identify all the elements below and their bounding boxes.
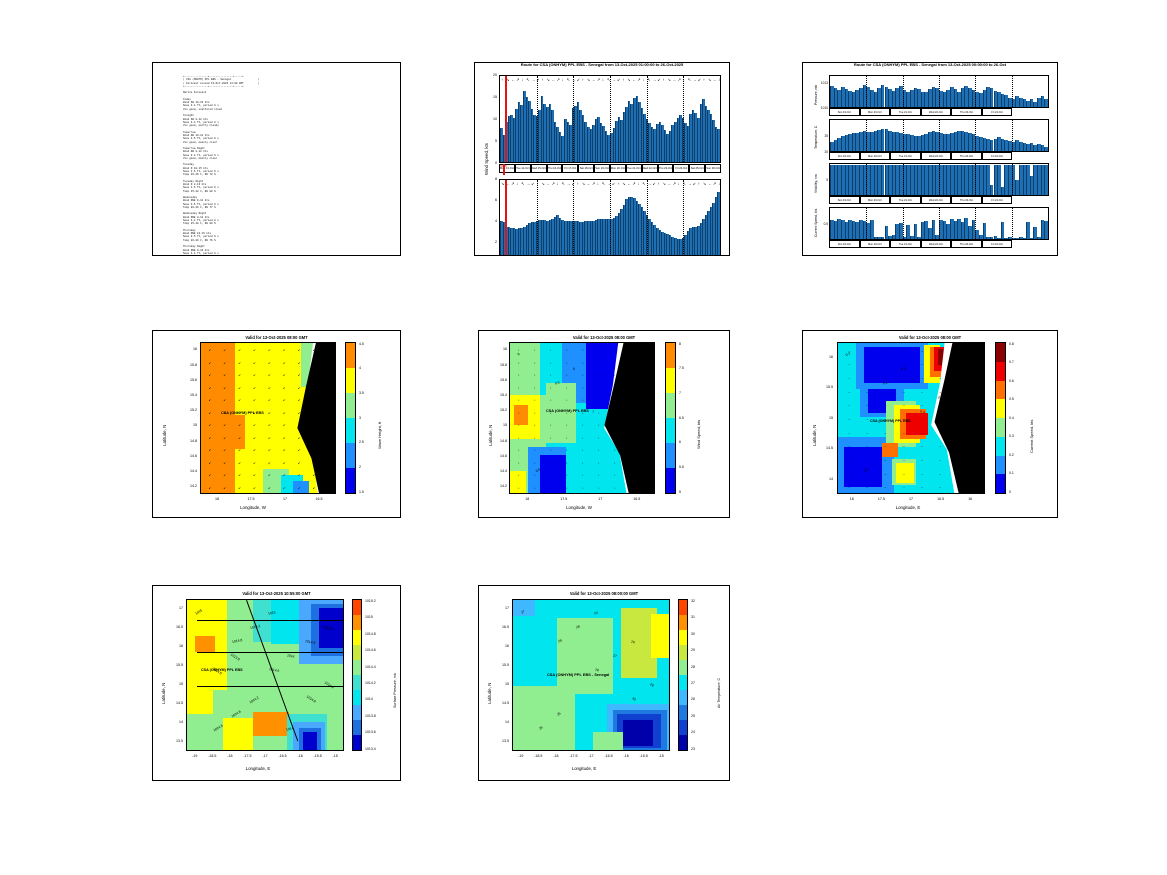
gridline <box>683 76 684 162</box>
direction-arrow: ← <box>673 77 677 82</box>
quiver-arrow: ↙ <box>313 487 316 490</box>
quiver-arrow: ↓ <box>566 487 568 490</box>
direction-arrow: ↙ <box>572 181 575 186</box>
quiver-arrow: ↙ <box>268 462 271 465</box>
quiver-arrow: ↓ <box>518 374 520 377</box>
quiver-arrow: ↓ <box>630 374 632 377</box>
gridline <box>939 76 940 107</box>
quiver-arrow: → <box>938 404 941 407</box>
quiver-arrow: ↓ <box>614 424 616 427</box>
direction-arrow: ↖ <box>602 181 605 186</box>
subplot-day-labels: Sun 19-OctMon 20-OctTue 21-OctWed 22-Oct… <box>829 240 1049 249</box>
quiver-arrow: ↙ <box>313 399 316 402</box>
contour-label: 24 <box>594 611 598 616</box>
quiver-arrow: ↓ <box>630 462 632 465</box>
direction-arrow: ↑ <box>622 77 624 82</box>
quiver-arrow: ↙ <box>238 424 241 427</box>
colorbar-tick: 0.1 <box>1009 471 1014 475</box>
quiver-arrow: ↓ <box>614 387 616 390</box>
quiver-arrow: → <box>975 404 978 407</box>
quiver-arrow: ↓ <box>614 412 616 415</box>
quiver-arrow: ↓ <box>582 424 584 427</box>
quiver-arrow: ↙ <box>283 462 286 465</box>
quiver-arrow: ↓ <box>566 449 568 452</box>
day-label: Fri 24-Oct <box>982 152 1013 160</box>
y-tick: 14.8 <box>179 439 197 443</box>
subplot-ytick: 5 <box>811 178 828 182</box>
day-label: Tue 21-Oct <box>890 196 921 204</box>
quiver-arrow: ↙ <box>313 449 316 452</box>
colorbar-segment <box>679 705 687 720</box>
direction-arrow: ↖ <box>647 77 650 82</box>
colorbar-tick: 1013.4 <box>365 747 376 751</box>
contour-label: 25 <box>556 711 561 716</box>
y-tick: 14 <box>165 720 183 724</box>
y-tick: 17 <box>165 606 183 610</box>
site-label: CSA (ONHYM) PPL EBS <box>546 409 589 413</box>
quiver-arrow: ↓ <box>646 387 648 390</box>
contour-label: 1015 <box>195 608 204 615</box>
quiver-arrow: ↙ <box>238 387 241 390</box>
day-label: Mon 20-Oct <box>860 152 891 160</box>
map-title: Valid for 13-Oct-2025 08:00 GMT <box>479 335 729 340</box>
y-tick: 15.6 <box>179 378 197 382</box>
direction-arrow: ↙ <box>531 181 534 186</box>
quiver-arrow: ↙ <box>313 374 316 377</box>
contour-label: 0.1 <box>883 382 888 386</box>
contour-label: 1014.8 <box>305 639 316 645</box>
direction-arrow: ← <box>668 181 672 186</box>
contour-label: 1015 <box>268 610 276 615</box>
subplot-bars <box>830 208 1048 239</box>
colorbar-segment <box>679 675 687 690</box>
quiver-arrow: ↓ <box>646 349 648 352</box>
quiver-arrow: → <box>957 459 960 462</box>
quiver-arrow: → <box>884 445 887 448</box>
colorbar-segment <box>679 645 687 660</box>
current-speed-colorbar <box>995 342 1006 494</box>
colorbar-segment <box>996 343 1005 362</box>
quiver-arrow: ↙ <box>223 362 226 365</box>
colorbar-segment <box>666 443 675 468</box>
y-tick: 16 <box>165 644 183 648</box>
site-label: CSA (ONHYM) PPL EBS <box>870 419 911 423</box>
colorbar-segment <box>996 437 1005 456</box>
colorbar-segment <box>353 675 361 690</box>
quiver-arrow: ↓ <box>550 462 552 465</box>
quiver-arrow: ↓ <box>550 399 552 402</box>
quiver-arrow: ↙ <box>268 412 271 415</box>
quiver-arrow: → <box>902 459 905 462</box>
y-tick: 17 <box>491 606 509 610</box>
colorbar-tick: 0.2 <box>1009 453 1014 457</box>
wave-height-map[interactable]: ↙↙↙↙↙↙↙↙↙↙↙↙↙↙↙↙↙↙↙↙↙↙↙↙↙↙↙↙↙↙↙↙↙↙↙↙↙↙↙↙… <box>200 342 336 494</box>
y-tick: 15.4 <box>179 393 197 397</box>
direction-arrow: ↑ <box>536 181 538 186</box>
direction-arrow: ↑ <box>501 77 503 82</box>
quiver-arrow: ↓ <box>534 474 536 477</box>
direction-arrow: ↗ <box>511 181 514 186</box>
y-tick: 15 <box>477 95 497 99</box>
current-time-marker <box>505 76 506 162</box>
colorbar-tick: 1015.2 <box>365 599 376 603</box>
quiver-arrow: ↙ <box>328 462 331 465</box>
longitude-axis-label: Longitude, E <box>823 505 993 510</box>
colorbar-tick: 5 <box>679 490 681 494</box>
y-tick: 15 <box>489 423 507 427</box>
colorbar-segment <box>666 368 675 393</box>
quiver-arrow: ↙ <box>298 399 301 402</box>
colorbar-tick: 3.5 <box>359 391 364 395</box>
contour-label: 25 <box>538 725 543 730</box>
quiver-arrow: → <box>865 350 868 353</box>
direction-arrow: ↓ <box>642 77 644 82</box>
direction-arrow: ↗ <box>632 181 635 186</box>
gridline <box>537 180 538 256</box>
quiver-arrow: → <box>902 486 905 489</box>
quiver-arrow: → <box>975 391 978 394</box>
subplot-3 <box>829 207 1049 240</box>
direction-arrow: ↗ <box>557 77 560 82</box>
colorbar-tick: 2.5 <box>359 440 364 444</box>
quiver-arrow: → <box>865 377 868 380</box>
direction-arrow: ↘ <box>703 181 706 186</box>
wind-speed-colorbar <box>665 342 676 494</box>
quiver-arrow: ↙ <box>238 449 241 452</box>
contour-label: 1014 <box>286 726 294 731</box>
quiver-arrow: ↓ <box>550 387 552 390</box>
quiver-arrow: ↓ <box>534 437 536 440</box>
day-label: Fri 24-Oct <box>982 240 1013 248</box>
quiver-arrow: ↓ <box>518 362 520 365</box>
quiver-arrow: ↙ <box>268 437 271 440</box>
y-tick: 14 <box>491 720 509 724</box>
x-tick: 17.5 <box>241 497 261 501</box>
quiver-arrow: ↓ <box>630 449 632 452</box>
y-tick: 15.5 <box>165 663 183 667</box>
direction-arrow: ↑ <box>703 77 705 82</box>
quiver-arrow: → <box>865 459 868 462</box>
quiver-arrow: ↙ <box>223 349 226 352</box>
quiver-arrow: → <box>884 459 887 462</box>
direction-arrow: ↖ <box>688 77 691 82</box>
quiver-arrow: ↓ <box>534 374 536 377</box>
quiver-arrow: ↓ <box>550 449 552 452</box>
direction-arrow: ↖ <box>526 77 529 82</box>
y-tick: 15.5 <box>815 385 833 389</box>
quiver-arrow: → <box>920 404 923 407</box>
longitude-axis-label: Longitude, E <box>499 766 669 771</box>
y-tick: 15.2 <box>179 408 197 412</box>
quiver-arrow: ↙ <box>298 487 301 490</box>
colorbar-tick: 0.6 <box>1009 379 1014 383</box>
quiver-arrow: → <box>902 445 905 448</box>
direction-arrow: ↗ <box>637 77 640 82</box>
y-tick: 14.5 <box>165 701 183 705</box>
subplot-0 <box>829 75 1049 108</box>
quiver-arrow: ↓ <box>566 387 568 390</box>
quiver-arrow: → <box>938 445 941 448</box>
quiver-arrow: ↓ <box>534 449 536 452</box>
quiver-arrow: ↓ <box>598 412 600 415</box>
colorbar-tick: 28 <box>691 665 695 669</box>
quiver-arrow: ↙ <box>298 424 301 427</box>
colorbar-tick: 1014.8 <box>365 632 376 636</box>
quiver-arrow: → <box>938 377 941 380</box>
quiver-arrow: → <box>957 363 960 366</box>
day-label: Thu 23-Oct <box>658 164 674 173</box>
quiver-arrow: ↙ <box>298 387 301 390</box>
quiver-arrow: → <box>975 350 978 353</box>
quiver-arrow: ↙ <box>253 362 256 365</box>
quiver-arrow: ↙ <box>253 349 256 352</box>
y-tick: 16 <box>815 355 833 359</box>
quiver-arrow: ↙ <box>313 362 316 365</box>
quiver-arrow: → <box>847 459 850 462</box>
quiver-arrow: ↙ <box>283 374 286 377</box>
y-tick: 10 <box>477 117 497 121</box>
quiver-arrow: → <box>865 363 868 366</box>
quiver-arrow: → <box>865 391 868 394</box>
day-label: Wed 22-Oct <box>642 164 658 173</box>
quiver-arrow: → <box>884 404 887 407</box>
quiver-arrow: → <box>975 377 978 380</box>
colorbar-segment <box>346 368 355 393</box>
quiver-arrow: ↙ <box>268 399 271 402</box>
quiver-arrow: ↓ <box>646 462 648 465</box>
quiver-arrow: ↙ <box>238 474 241 477</box>
gridline <box>537 76 538 162</box>
wind-wave-timeseries-panel: Route for CSA (ONHYM) PPL EBS - Senegal … <box>474 62 730 256</box>
x-tick: 18 <box>842 497 862 501</box>
quiver-arrow: → <box>884 391 887 394</box>
quiver-arrow: ↓ <box>582 437 584 440</box>
gridline <box>1012 120 1013 151</box>
quiver-arrow: ↓ <box>518 462 520 465</box>
quiver-arrow: ↙ <box>328 437 331 440</box>
colorbar-tick: 29 <box>691 648 695 652</box>
x-tick: -15 <box>651 754 671 758</box>
contour-label: 1013.6 <box>230 652 241 661</box>
colorbar-segment <box>666 393 675 418</box>
direction-arrow: → <box>572 77 576 82</box>
day-label: Wed 22-Oct <box>921 152 952 160</box>
quiver-arrow: ↓ <box>630 487 632 490</box>
quiver-arrow: ↓ <box>598 387 600 390</box>
direction-arrow: ← <box>546 181 550 186</box>
air-temperature-map[interactable]: CSA (ONHYM) PPL EBS - Senegal 2729283025… <box>512 599 670 751</box>
quiver-arrow: → <box>847 445 850 448</box>
quiver-arrow: ↙ <box>298 374 301 377</box>
direction-arrow: ↖ <box>607 77 610 82</box>
gridline <box>610 76 611 162</box>
bar <box>1044 221 1048 239</box>
wind-speed-map[interactable]: ↓↓↓↓↓↓↓↓↓↓↓↓↓↓↓↓↓↓↓↓↓↓↓↓↓↓↓↓↓↓↓↓↓↓↓↓↓↓↓↓… <box>509 342 655 494</box>
quiver-arrow: ↙ <box>298 412 301 415</box>
direction-arrow: ↓ <box>602 77 604 82</box>
quiver-arrow: ↓ <box>518 399 520 402</box>
quiver-arrow: → <box>957 377 960 380</box>
y-tick: 15.5 <box>491 663 509 667</box>
contour-label: 1014.6 <box>269 667 280 673</box>
quiver-arrow: ↓ <box>598 362 600 365</box>
quiver-arrow: ↙ <box>253 374 256 377</box>
direction-arrow: ↙ <box>652 181 655 186</box>
contour-label: 6 <box>517 353 520 357</box>
quiver-arrow: ↙ <box>238 487 241 490</box>
day-label: Sat 18-Oct <box>578 164 594 173</box>
subplot-bars <box>830 120 1048 151</box>
quiver-arrow: ↙ <box>208 399 211 402</box>
quiver-arrow: ↓ <box>534 399 536 402</box>
surface-pressure-map-panel: Valid for 13-Oct-2025 10:55:00 GMT Latit… <box>152 585 401 781</box>
current-speed-map-panel: Valid for 13-Oct-2025 08:00 GMT Latitude… <box>802 330 1058 518</box>
quiver-arrow: ↓ <box>518 437 520 440</box>
y-tick: 15 <box>179 423 197 427</box>
quiver-arrow: ↙ <box>283 449 286 452</box>
y-tick: 14 <box>815 477 833 481</box>
site-label: CSA (ONHYM) PPL EBS <box>221 411 264 415</box>
colorbar-segment <box>353 600 361 615</box>
contour-label: 6 <box>573 368 576 372</box>
quiver-arrow: ↙ <box>313 412 316 415</box>
direction-arrow: ↑ <box>662 77 664 82</box>
quiver-arrow: ↓ <box>534 462 536 465</box>
contour-label: 29 <box>558 639 562 644</box>
direction-arrow: ↓ <box>683 77 685 82</box>
quiver-arrow: ↙ <box>208 424 211 427</box>
quiver-arrow: ↓ <box>518 424 520 427</box>
contour-label: 6.5 <box>535 468 541 473</box>
contour-label: 1014.2 <box>250 624 261 630</box>
quiver-arrow: → <box>847 377 850 380</box>
direction-arrow: ↗ <box>713 181 716 186</box>
quiver-arrow: ↙ <box>253 462 256 465</box>
direction-arrow: → <box>531 77 535 82</box>
current-speed-map[interactable]: →→→→→→→→→→→→→→→→→→→→→→→→→→→→→→→→→→→→→→→→… <box>837 342 985 494</box>
y-tick: 14.2 <box>489 484 507 488</box>
x-tick: 16.5 <box>627 497 647 501</box>
forecast-text-report-panel: +---------------+---------------+-----+|… <box>152 62 401 256</box>
quiver-arrow: ↓ <box>550 374 552 377</box>
quiver-arrow: → <box>957 432 960 435</box>
x-tick: 16 <box>960 497 980 501</box>
quiver-arrow: ↓ <box>582 474 584 477</box>
colorbar-segment <box>996 381 1005 400</box>
direction-arrow: ↓ <box>637 181 639 186</box>
y-tick: 16 <box>179 347 197 351</box>
quiver-arrow: ↙ <box>313 349 316 352</box>
y-tick: 16.5 <box>491 625 509 629</box>
quiver-arrow: → <box>975 473 978 476</box>
quiver-arrow: → <box>920 377 923 380</box>
direction-arrow: ↓ <box>516 181 518 186</box>
quiver-arrow: ↓ <box>566 474 568 477</box>
quiver-arrow: ↙ <box>268 487 271 490</box>
colorbar-segment <box>353 615 361 630</box>
quiver-arrow: → <box>957 404 960 407</box>
quiver-arrow: → <box>975 445 978 448</box>
colorbar-segment <box>679 690 687 705</box>
direction-arrow: ↘ <box>506 77 509 82</box>
quiver-arrow: ↙ <box>283 424 286 427</box>
day-label: Mon 20-Oct <box>860 196 891 204</box>
quiver-arrow: ↓ <box>598 349 600 352</box>
quiver-arrow: ↓ <box>534 349 536 352</box>
colorbar-segment <box>346 393 355 418</box>
quiver-arrow: ↙ <box>223 449 226 452</box>
quiver-arrow: ↙ <box>208 474 211 477</box>
quiver-arrow: ↙ <box>328 374 331 377</box>
subplot-ytick: 0.5 <box>811 222 828 226</box>
quiver-arrow: ↓ <box>550 362 552 365</box>
colorbar-segment <box>679 630 687 645</box>
quiver-arrow: → <box>902 432 905 435</box>
quiver-arrow: → <box>847 432 850 435</box>
wave-height-bars <box>500 180 720 256</box>
y-tick: 14.6 <box>179 454 197 458</box>
contour-label: 1014.8 <box>232 638 243 644</box>
bar <box>717 192 720 256</box>
day-label: Sat 25-Oct <box>689 164 705 173</box>
quiver-arrow: → <box>938 418 941 421</box>
map-title: Valid for 13-Oct-2025 08:00 GMT <box>153 335 400 340</box>
quiver-arrow: ↙ <box>238 399 241 402</box>
contour-label: 1014.4 <box>324 680 335 689</box>
quiver-arrow: → <box>847 473 850 476</box>
wave-height-map-panel: Valid for 13-Oct-2025 08:00 GMT Latitude… <box>152 330 401 518</box>
quiver-arrow: ↓ <box>630 399 632 402</box>
y-tick: 6 <box>477 198 497 202</box>
wave-direction-quiver: ↙↙↙↙↙↙↙↙↙↙↙↙↙↙↙↙↙↙↙↙↙↙↙↙↙↙↙↙↙↙↙↙↙↙↙↙↙↙↙↙… <box>201 343 335 493</box>
wind-day-labels: Mon 13-OctTue 14-OctWed 15-OctThu 16-Oct… <box>499 164 721 175</box>
direction-arrow: ↗ <box>551 181 554 186</box>
map-title: Valid for 13-Oct-2025 08:00:00 GMT <box>479 591 729 596</box>
colorbar-tick: 0.7 <box>1009 360 1014 364</box>
quiver-arrow: ↙ <box>328 412 331 415</box>
quiver-arrow: → <box>884 486 887 489</box>
contour-label: 1014.2 <box>249 695 260 704</box>
quiver-arrow: ↓ <box>598 437 600 440</box>
contour-label: 1014.6 <box>213 723 224 732</box>
y-tick: 16.5 <box>165 625 183 629</box>
day-label: Sun 19-Oct <box>594 164 610 173</box>
quiver-arrow: → <box>920 391 923 394</box>
quiver-arrow: ↓ <box>534 487 536 490</box>
wave-direction-arrows: ↘←↗↓↖→↙↑↘←↗↓↖→↙↑↘←↗↓↖→↙↑↘←↗↓↖→↙↑↘←↗↓↖→↙↑… <box>499 181 721 187</box>
quiver-arrow: ↓ <box>550 349 552 352</box>
quiver-arrow: ↓ <box>630 474 632 477</box>
chart-title: Route for CSA (ONHYM) PPL EBS - Senegal … <box>803 62 1057 67</box>
surface-pressure-map[interactable]: CSA (ONHYM) PPL EBS 10151014.81014.61014… <box>186 599 344 751</box>
quiver-arrow: ↙ <box>328 362 331 365</box>
colorbar-segment <box>353 690 361 705</box>
quiver-arrow: → <box>847 486 850 489</box>
direction-arrow: ↘ <box>622 181 625 186</box>
direction-arrow: ← <box>511 77 515 82</box>
colorbar-tick: 30 <box>691 632 695 636</box>
direction-arrow: → <box>612 77 616 82</box>
colorbar-tick: 25 <box>691 714 695 718</box>
quiver-arrow: ↙ <box>223 462 226 465</box>
colorbar-tick: 0.4 <box>1009 416 1014 420</box>
direction-arrow: ↘ <box>546 77 549 82</box>
quiver-arrow: ↙ <box>268 424 271 427</box>
gridline <box>1012 164 1013 195</box>
day-label: Mon 20-Oct <box>860 108 891 116</box>
x-tick: 16.5 <box>309 497 329 501</box>
quiver-arrow: ↓ <box>582 349 584 352</box>
